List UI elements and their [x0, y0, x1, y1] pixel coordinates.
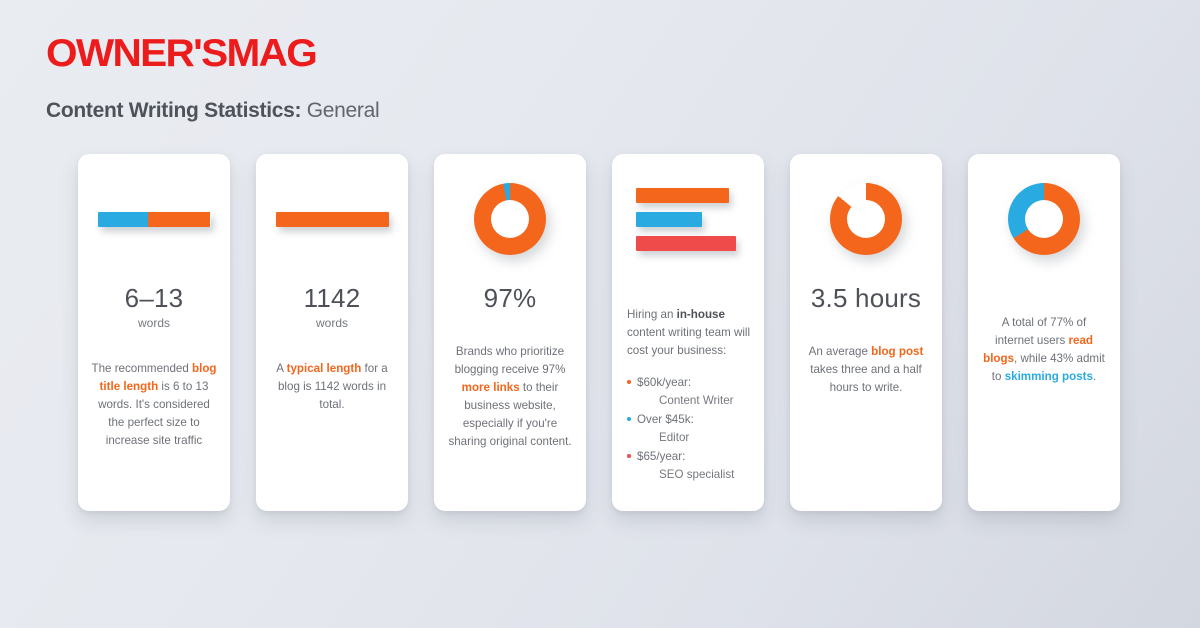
card-description: A typical length for a blog is 1142 word… [265, 360, 399, 414]
bullet-dot-icon [627, 417, 631, 421]
cost-bar-1 [636, 188, 729, 203]
cost-bar-3 [636, 236, 736, 251]
stat-card-read-vs-skim: A total of 77% of internet users read bl… [968, 154, 1120, 511]
donut-chart-graphic [443, 154, 577, 284]
description-text: An average [809, 345, 872, 358]
highlight-phrase: in-house [677, 308, 725, 321]
stat-card-time-to-write: 3.5 hoursAn average blog post takes thre… [790, 154, 942, 511]
description-text: The recommended [92, 362, 193, 375]
page-title: Content Writing Statistics: General [46, 99, 379, 123]
cost-list-item: $60k/year:Content Writer [627, 374, 755, 410]
stat-value: 97% [484, 284, 537, 313]
cost-amount: $60k/year: [637, 376, 691, 389]
stat-card-in-house-costs: Hiring an in-house content writing team … [612, 154, 764, 511]
cost-amount: Over $45k: [637, 413, 694, 426]
bar-segment-2 [148, 212, 210, 227]
stat-value: 6–13 [125, 284, 184, 313]
stat-label: words [304, 316, 361, 330]
donut-chart [1008, 183, 1080, 255]
bar-chart-graphic [621, 154, 755, 284]
cost-bar-2 [636, 212, 702, 227]
cost-role: SEO specialist [637, 466, 755, 484]
stat-block: 3.5 hours [811, 284, 921, 313]
description-text: Brands who prioritize blogging receive 9… [455, 345, 566, 376]
bar-graphic [265, 154, 399, 284]
stat-value: 1142 [304, 284, 361, 313]
cost-list-item: $65/year:SEO specialist [627, 448, 755, 484]
bar-graphic [87, 154, 221, 284]
stat-block: 1142words [304, 284, 361, 330]
bar-segment-1 [276, 212, 389, 227]
card-description: Brands who prioritize blogging receive 9… [443, 343, 577, 451]
split-bar [276, 212, 389, 227]
donut-chart-graphic [977, 154, 1111, 284]
stat-card-blog-title-length: 6–13wordsThe recommended blog title leng… [78, 154, 230, 511]
description-text: content writing team will cost your busi… [627, 326, 750, 357]
highlight-phrase: blog post [871, 345, 923, 358]
stat-label: words [125, 316, 184, 330]
card-description: An average blog post takes three and a h… [799, 343, 933, 397]
bar-segment-1 [98, 212, 149, 227]
stat-card-more-links: 97%Brands who prioritize blogging receiv… [434, 154, 586, 511]
donut-chart-graphic [799, 154, 933, 284]
description-text: takes three and a half hours to write. [810, 363, 922, 394]
cost-list: $60k/year:Content WriterOver $45k:Editor… [621, 374, 755, 485]
description-text: Hiring an [627, 308, 677, 321]
stat-value: 3.5 hours [811, 284, 921, 313]
donut-chart [830, 183, 902, 255]
stat-card-typical-blog-length: 1142wordsA typical length for a blog is … [256, 154, 408, 511]
highlight-phrase: more links [462, 381, 520, 394]
stat-card-grid: 6–13wordsThe recommended blog title leng… [78, 154, 1120, 511]
cost-role: Editor [637, 429, 755, 447]
bullet-dot-icon [627, 380, 631, 384]
card-description: Hiring an in-house content writing team … [621, 306, 755, 360]
brand-logo: OWNER'SMAG [46, 34, 393, 73]
stat-block: 6–13words [125, 284, 184, 330]
bullet-dot-icon [627, 454, 631, 458]
cost-amount: $65/year: [637, 450, 685, 463]
bar-stack [621, 188, 755, 251]
card-description: A total of 77% of internet users read bl… [977, 314, 1111, 386]
split-bar [98, 212, 211, 227]
highlight-phrase: skimming posts [1005, 370, 1093, 383]
page-header: OWNER'SMAG Content Writing Statistics: G… [46, 34, 379, 123]
donut-chart [474, 183, 546, 255]
stat-block: 97% [484, 284, 537, 313]
description-text: . [1093, 370, 1096, 383]
description-text: A [276, 362, 286, 375]
page-title-light: General [301, 99, 379, 122]
card-description: The recommended blog title length is 6 t… [87, 360, 221, 450]
cost-role: Content Writer [637, 392, 755, 410]
cost-list-item: Over $45k:Editor [627, 411, 755, 447]
highlight-phrase: typical length [287, 362, 362, 375]
page-title-bold: Content Writing Statistics: [46, 99, 301, 122]
